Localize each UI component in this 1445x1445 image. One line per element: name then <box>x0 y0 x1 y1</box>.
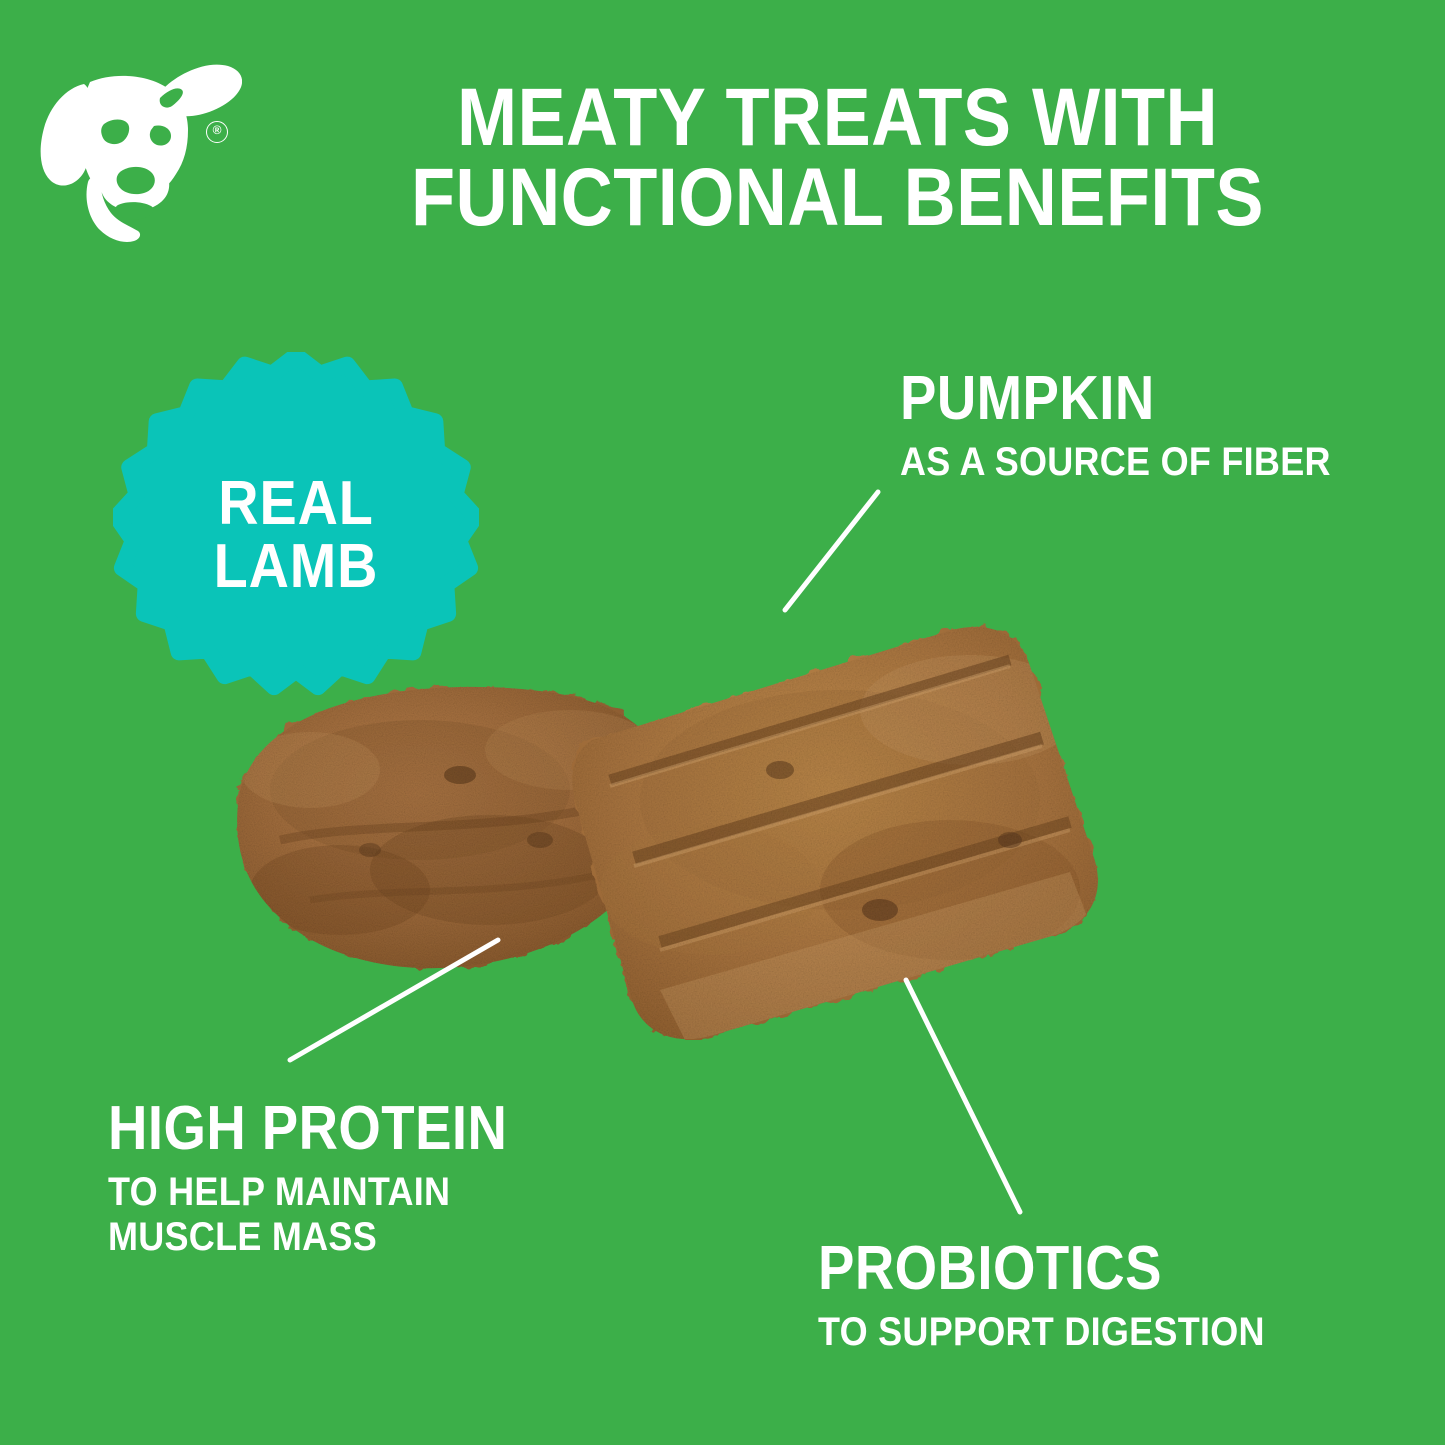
callout-high-protein: HIGH PROTEIN TO HELP MAINTAIN MUSCLE MAS… <box>108 1098 562 1260</box>
headline-line-2: FUNCTIONAL BENEFITS <box>325 158 1350 238</box>
badge-line-2: LAMB <box>214 535 379 598</box>
callout-pumpkin-subtext-line-1: AS A SOURCE OF FIBER <box>900 440 1331 485</box>
registered-trademark-icon: ® <box>206 121 228 143</box>
callout-probiotics-subtext-line-1: TO SUPPORT DIGESTION <box>818 1310 1265 1355</box>
callout-probiotics: PROBIOTICS TO SUPPORT DIGESTION <box>818 1238 1314 1355</box>
real-lamb-badge: REAL LAMB <box>113 352 479 718</box>
callout-pumpkin: PUMPKIN AS A SOURCE OF FIBER <box>900 368 1379 485</box>
callout-high-protein-heading: HIGH PROTEIN <box>108 1098 507 1160</box>
page-title: MEATY TREATS WITH FUNCTIONAL BENEFITS <box>325 78 1350 239</box>
callout-high-protein-subtext: TO HELP MAINTAIN MUSCLE MASS <box>108 1170 516 1260</box>
callout-pumpkin-heading: PUMPKIN <box>900 368 1321 430</box>
callout-probiotics-subtext: TO SUPPORT DIGESTION <box>818 1310 1265 1355</box>
real-lamb-badge-text: REAL LAMB <box>131 352 460 718</box>
badge-line-1: REAL <box>218 472 374 535</box>
callout-high-protein-subtext-line-2: MUSCLE MASS <box>108 1215 516 1260</box>
pedigree-dog-head-logo <box>22 62 242 252</box>
callout-high-protein-subtext-line-1: TO HELP MAINTAIN <box>108 1170 516 1215</box>
product-benefits-panel: ® MEATY TREATS WITH FUNCTIONAL BENEFITS <box>0 0 1445 1445</box>
headline-line-1: MEATY TREATS WITH <box>325 78 1350 158</box>
callout-probiotics-heading: PROBIOTICS <box>818 1238 1255 1300</box>
callout-pumpkin-subtext: AS A SOURCE OF FIBER <box>900 440 1331 485</box>
